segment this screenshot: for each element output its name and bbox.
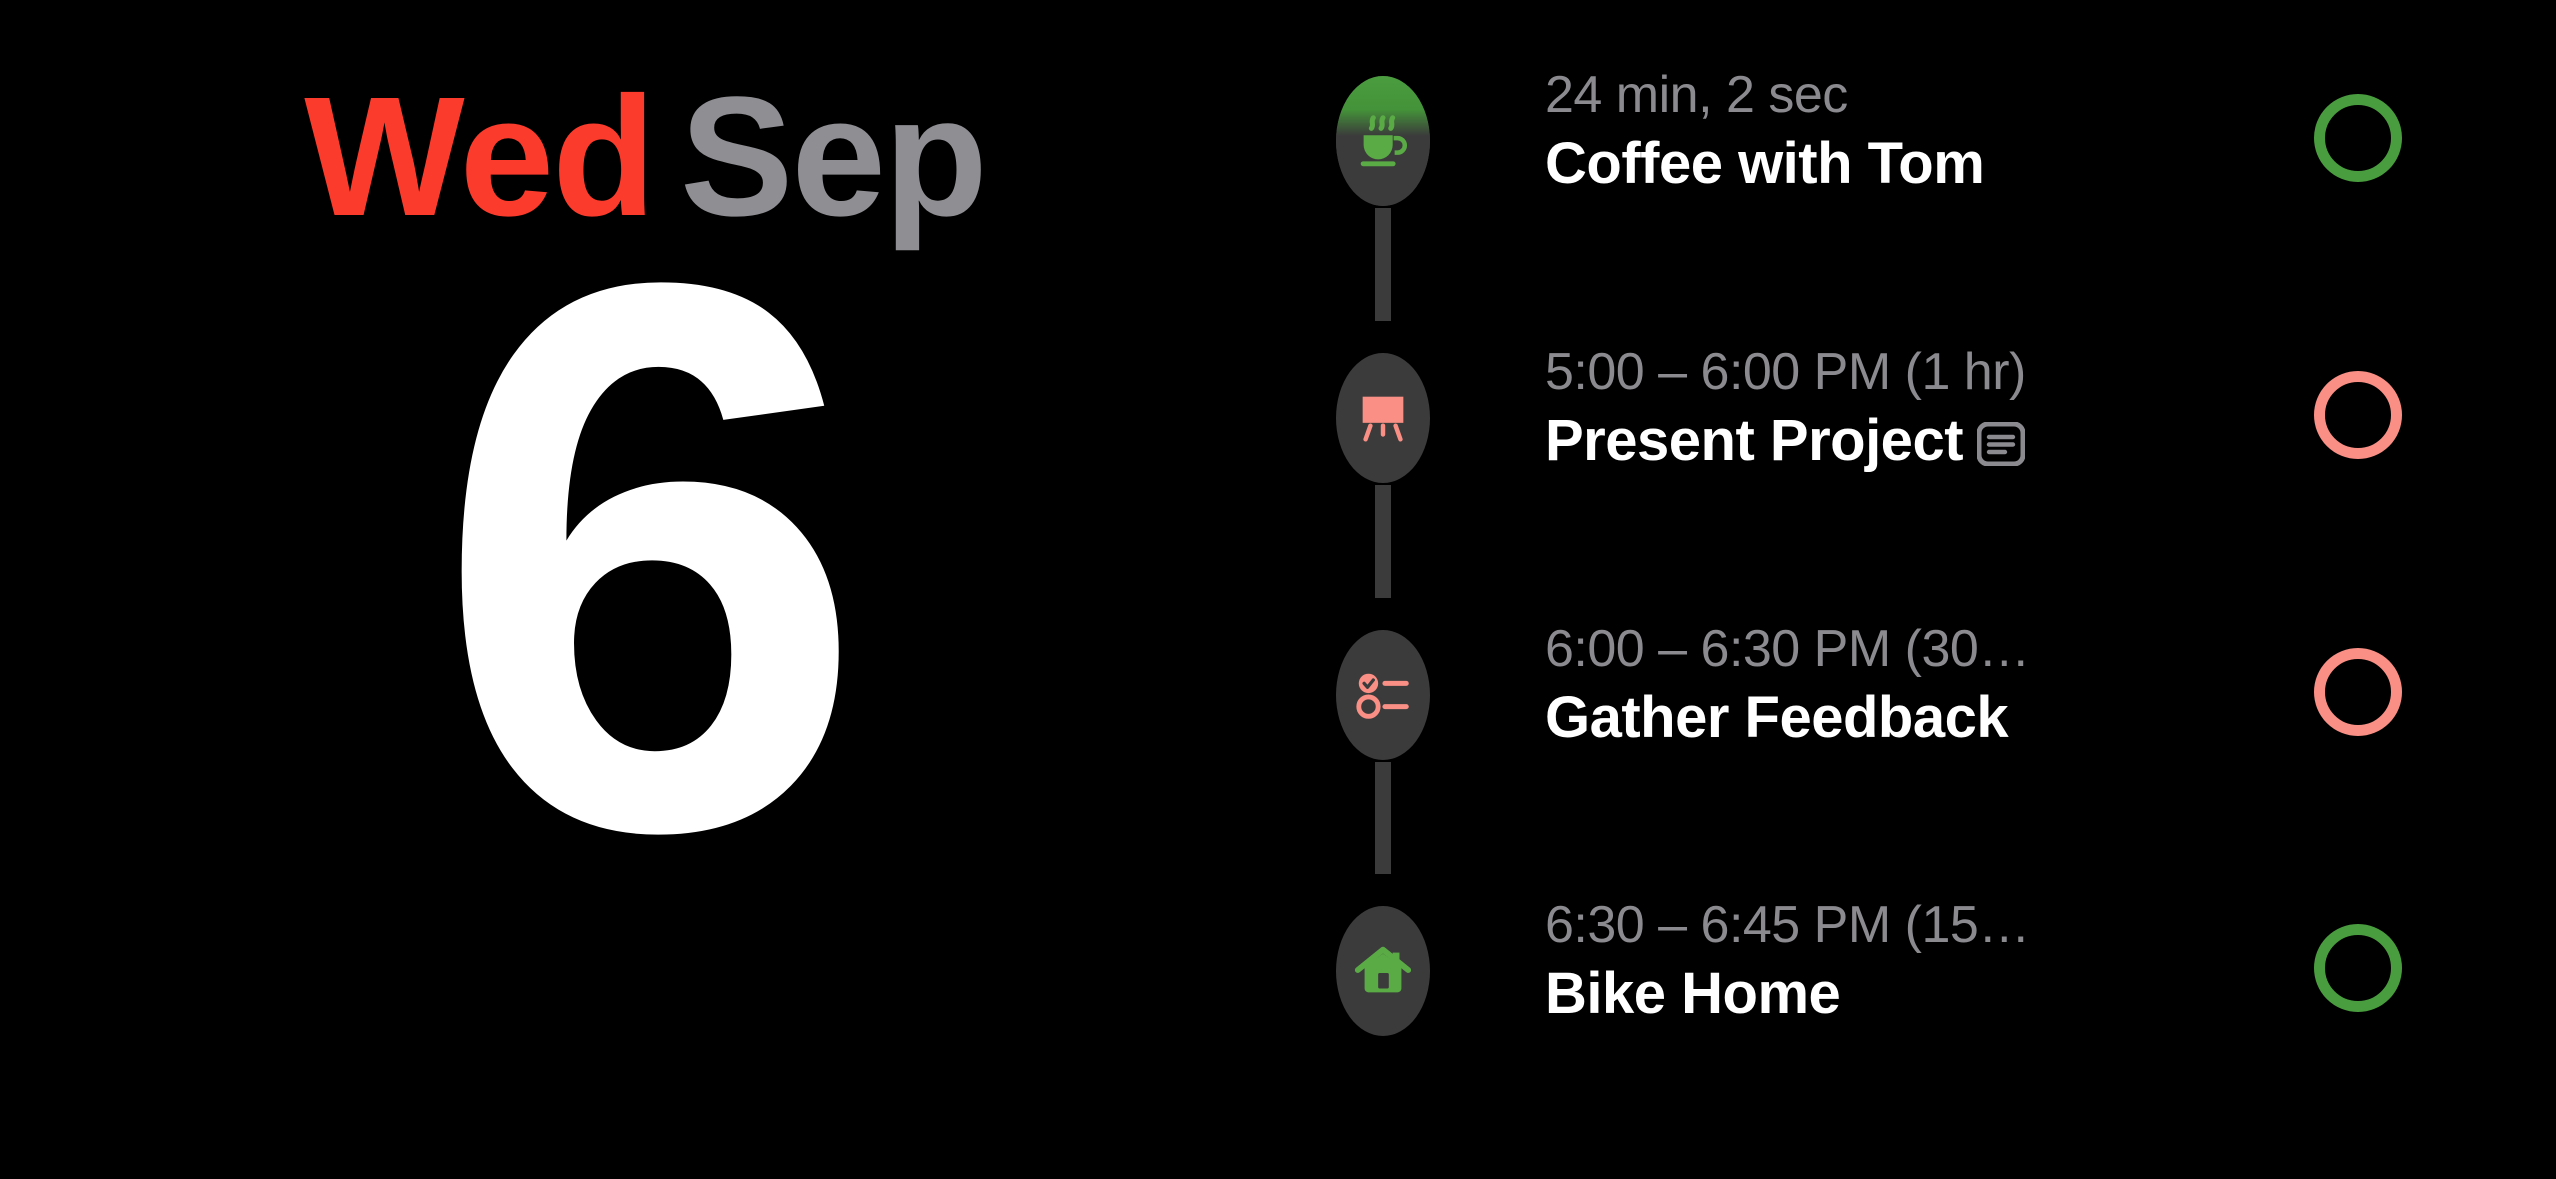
- checklist-icon: [1352, 664, 1414, 726]
- coffee-cup-icon: [1352, 110, 1414, 172]
- status-ring-green[interactable]: [2314, 924, 2402, 1012]
- status-ring-green[interactable]: [2314, 94, 2402, 182]
- event-title-row: Coffee with Tom: [1545, 131, 2205, 197]
- event-text-block: 6:00 – 6:30 PM (30… Gather Feedback: [1545, 620, 2205, 751]
- event-title: Present Project: [1545, 408, 1963, 474]
- status-ring-salmon[interactable]: [2314, 648, 2402, 736]
- schedule-event-row[interactable]: 5:00 – 6:00 PM (1 hr) Present Project: [1290, 333, 2556, 503]
- event-text-block: 5:00 – 6:00 PM (1 hr) Present Project: [1545, 343, 2205, 474]
- event-title-row: Gather Feedback: [1545, 685, 2205, 751]
- event-text-block: 24 min, 2 sec Coffee with Tom: [1545, 66, 2205, 197]
- day-number: 6: [0, 168, 1290, 948]
- event-icon-bubble: [1336, 353, 1430, 483]
- event-title: Bike Home: [1545, 961, 1840, 1027]
- house-icon: [1352, 940, 1414, 1002]
- event-title-row: Bike Home: [1545, 961, 2205, 1027]
- status-ring-salmon[interactable]: [2314, 371, 2402, 459]
- event-title-row: Present Project: [1545, 408, 2205, 474]
- event-title: Gather Feedback: [1545, 685, 2008, 751]
- schedule-event-row[interactable]: 6:30 – 6:45 PM (15… Bike Home: [1290, 886, 2556, 1056]
- event-icon-bubble: [1336, 76, 1430, 206]
- schedule-timeline[interactable]: 24 min, 2 sec Coffee with Tom: [1290, 0, 2556, 1179]
- event-time: 6:30 – 6:45 PM (15…: [1545, 896, 2205, 955]
- event-time: 24 min, 2 sec: [1545, 66, 2205, 125]
- event-icon-bubble: [1336, 630, 1430, 760]
- event-time: 5:00 – 6:00 PM (1 hr): [1545, 343, 2205, 402]
- event-title: Coffee with Tom: [1545, 131, 1984, 197]
- date-complication[interactable]: WedSep 6: [0, 0, 1290, 1179]
- event-text-block: 6:30 – 6:45 PM (15… Bike Home: [1545, 896, 2205, 1027]
- notes-icon: [1977, 422, 2025, 466]
- presentation-easel-icon: [1352, 387, 1414, 449]
- schedule-event-row[interactable]: 24 min, 2 sec Coffee with Tom: [1290, 56, 2556, 226]
- event-time: 6:00 – 6:30 PM (30…: [1545, 620, 2205, 679]
- watch-face-screen: WedSep 6: [0, 0, 2556, 1179]
- event-icon-bubble: [1336, 906, 1430, 1036]
- schedule-event-row[interactable]: 6:00 – 6:30 PM (30… Gather Feedback: [1290, 610, 2556, 780]
